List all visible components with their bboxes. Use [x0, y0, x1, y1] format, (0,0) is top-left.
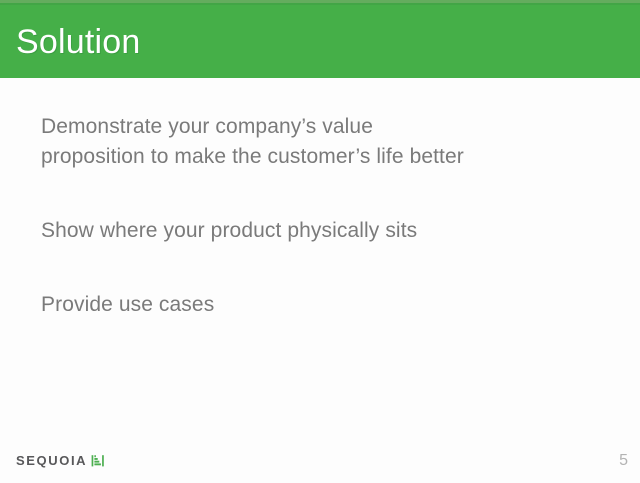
- body-line: Demonstrate your company’s value: [41, 112, 611, 142]
- body-line: Show where your product physically sits: [41, 216, 611, 246]
- body-line: Provide use cases: [41, 290, 611, 320]
- slide-title: Solution: [16, 22, 140, 62]
- banner-top-accent-strip-secondary: [0, 3, 640, 5]
- title-banner: Solution Solution: [0, 0, 640, 78]
- body-paragraph: Show where your product physically sits: [41, 216, 611, 246]
- presentation-slide: Solution Solution Demonstrate your compa…: [0, 0, 640, 483]
- sequoia-logo: SEQUOIA: [16, 454, 105, 468]
- sequoia-wordmark: SEQUOIA: [16, 454, 87, 468]
- body-paragraph: Provide use cases: [41, 290, 611, 320]
- page-number: 5: [619, 452, 628, 470]
- slide-body: Demonstrate your company’s value proposi…: [41, 112, 611, 320]
- body-paragraph: Demonstrate your company’s value proposi…: [41, 112, 611, 172]
- slide-footer: SEQUOIA 5: [0, 440, 640, 483]
- body-line: proposition to make the customer’s life …: [41, 142, 611, 172]
- sequoia-tree-icon: [91, 454, 105, 468]
